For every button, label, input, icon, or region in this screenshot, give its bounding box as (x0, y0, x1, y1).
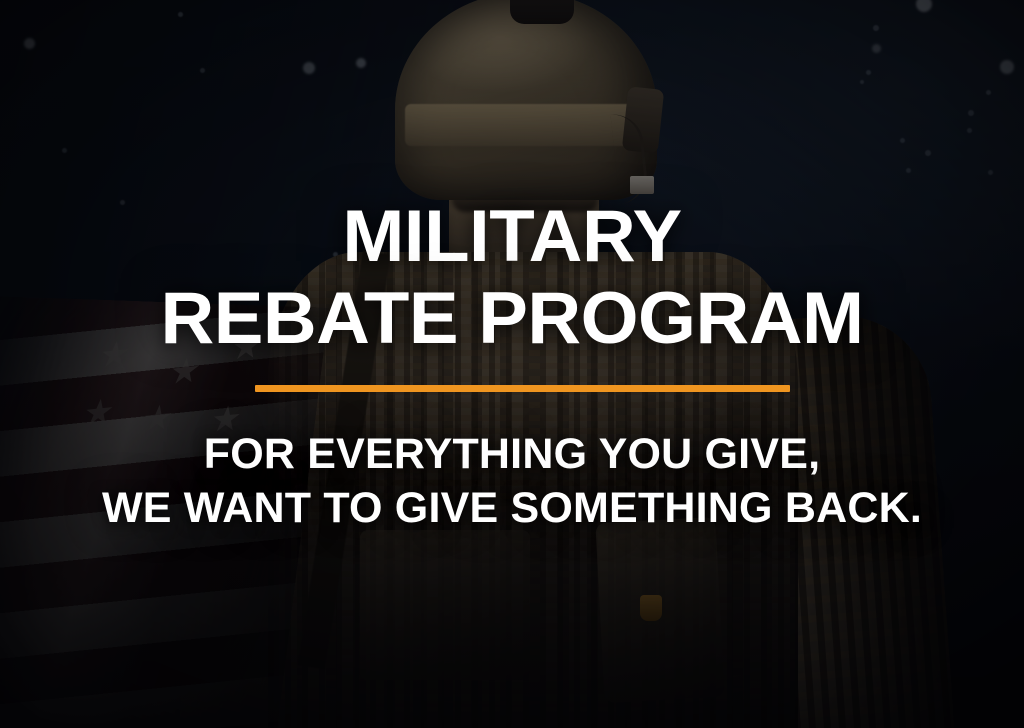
subheadline-line-2: WE WANT TO GIVE SOMETHING BACK. (0, 486, 1024, 531)
headline-line-1: MILITARY (0, 203, 1024, 271)
orange-divider (255, 385, 790, 392)
headline-line-2: REBATE PROGRAM (0, 285, 1024, 353)
military-rebate-banner: MILITARY REBATE PROGRAM FOR EVERYTHING Y… (0, 0, 1024, 728)
banner-content: MILITARY REBATE PROGRAM FOR EVERYTHING Y… (0, 0, 1024, 728)
subheadline-line-1: FOR EVERYTHING YOU GIVE, (0, 432, 1024, 477)
